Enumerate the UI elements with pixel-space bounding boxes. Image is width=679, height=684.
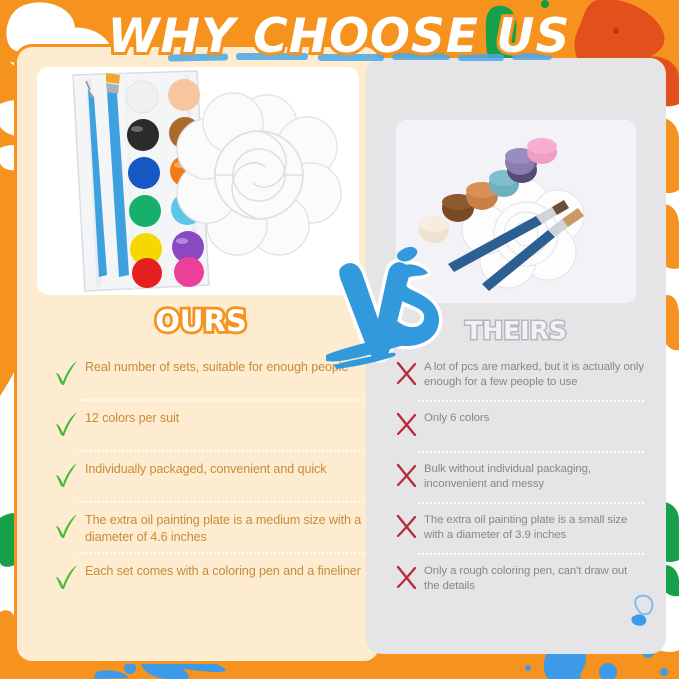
red-dot (613, 28, 619, 34)
ours-product-photo (37, 67, 359, 295)
check-icon (53, 564, 79, 590)
list-separator (418, 502, 644, 504)
list-item: Bulk without individual packaging, incon… (396, 462, 644, 502)
vs-brush-icon (324, 243, 448, 369)
list-separator (79, 450, 371, 452)
list-item-label: Only 6 colors (424, 411, 489, 426)
check-icon (53, 462, 79, 488)
check-icon (53, 513, 79, 539)
blue-splatter-svg (626, 594, 656, 628)
list-item-label: The extra oil painting plate is a small … (424, 513, 644, 543)
list-item: The extra oil painting plate is a small … (396, 513, 644, 553)
list-separator (79, 552, 371, 554)
list-separator (79, 399, 371, 401)
list-item: Only a rough coloring pen, can't draw ou… (396, 564, 644, 604)
ours-product-photo-svg (37, 67, 359, 295)
list-item-label: 12 colors per suit (85, 410, 179, 427)
ours-heading-svg: OURS (101, 300, 301, 342)
cross-icon (396, 463, 418, 487)
blue-splatter-icon (626, 594, 656, 628)
list-item: Each set comes with a coloring pen and a… (53, 563, 371, 603)
list-item-label: Real number of sets, suitable for enough… (85, 359, 348, 376)
theirs-heading-text: THEIRS (465, 316, 567, 345)
list-item-label: Bulk without individual packaging, incon… (424, 462, 644, 492)
check-icon (53, 411, 79, 437)
list-item-label: Only a rough coloring pen, can't draw ou… (424, 564, 644, 594)
list-item-label: Individually packaged, convenient and qu… (85, 461, 326, 478)
list-separator (418, 553, 644, 555)
list-item-label: Each set comes with a coloring pen and a… (85, 563, 361, 580)
cross-icon (396, 565, 418, 589)
versus-badge (324, 243, 448, 369)
check-icon (53, 360, 79, 386)
list-item: Only 6 colors (396, 411, 644, 451)
ours-benefit-list: Real number of sets, suitable for enough… (53, 359, 371, 603)
list-separator (79, 501, 371, 503)
list-separator (418, 400, 644, 402)
list-item-label: A lot of pcs are marked, but it is actua… (424, 360, 644, 390)
list-item-label: The extra oil painting plate is a medium… (85, 512, 371, 545)
green-dot (541, 0, 549, 8)
ours-heading-text: OURS (155, 304, 246, 338)
list-item: The extra oil painting plate is a medium… (53, 512, 371, 552)
cross-icon (396, 412, 418, 436)
list-item: 12 colors per suit (53, 410, 371, 450)
theirs-drawback-list: A lot of pcs are marked, but it is actua… (396, 360, 644, 604)
list-separator (418, 451, 644, 453)
list-item: Individually packaged, convenient and qu… (53, 461, 371, 501)
cross-icon (396, 514, 418, 538)
